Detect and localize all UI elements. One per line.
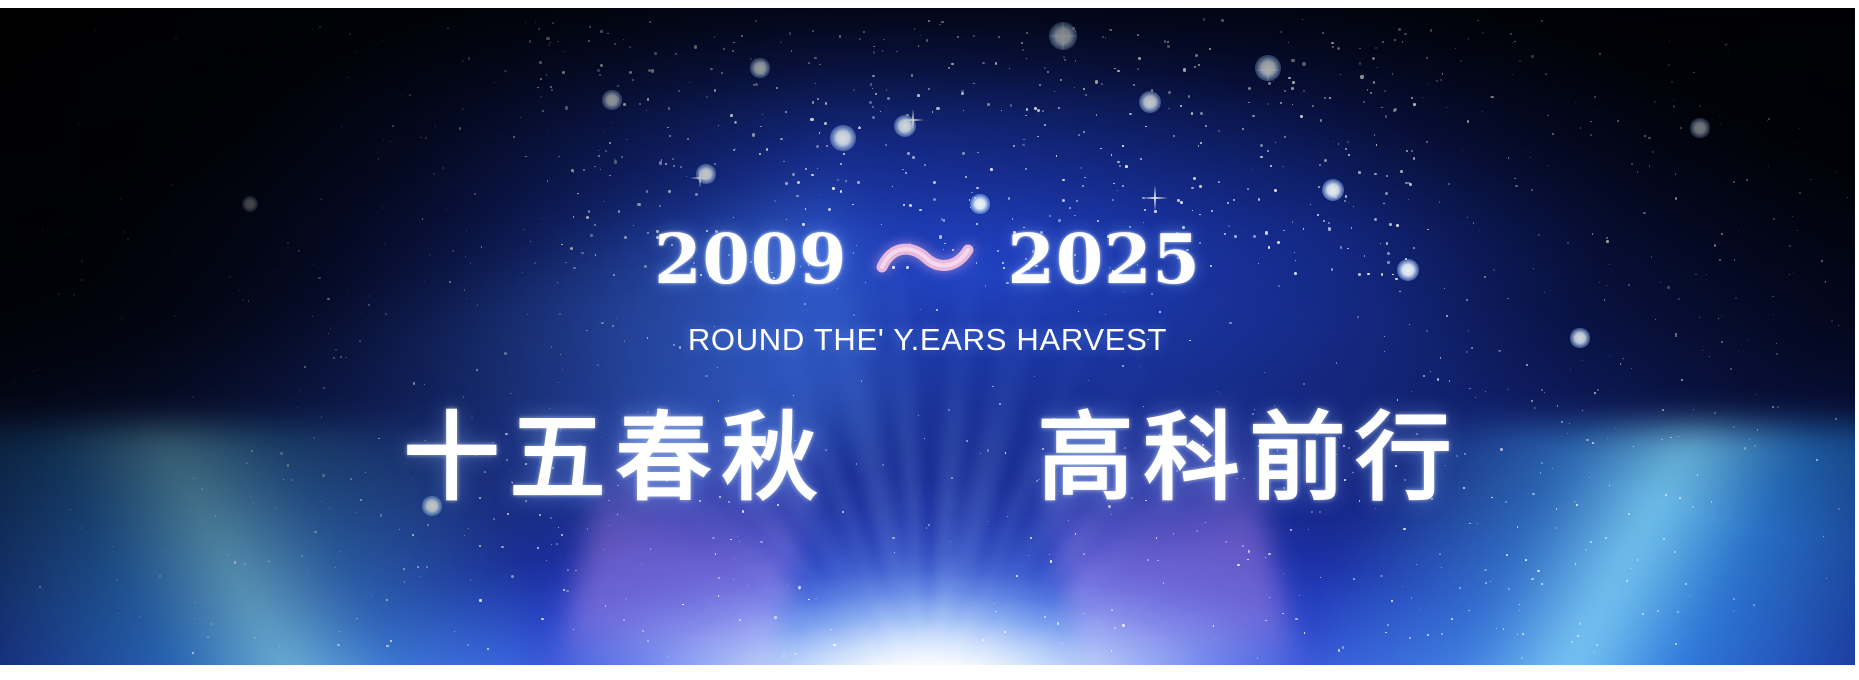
headline-row: 十五春秋 高科前行 xyxy=(0,408,1855,510)
headline-right: 高科前行 xyxy=(1028,408,1462,510)
banner-canvas: 2009 2025 ROUND THE' Y.EARS HARVEST 十五春秋… xyxy=(0,8,1855,665)
banner-content: 2009 2025 ROUND THE' Y.EARS HARVEST 十五春秋… xyxy=(0,8,1855,665)
anniversary-banner: 2009 2025 ROUND THE' Y.EARS HARVEST 十五春秋… xyxy=(0,0,1859,680)
wave-tilde-icon xyxy=(874,231,982,289)
year-range: 2009 2025 xyxy=(0,226,1855,294)
english-subtitle: ROUND THE' Y.EARS HARVEST xyxy=(0,322,1855,358)
year-start: 2009 xyxy=(654,226,847,294)
headline-left: 十五春秋 xyxy=(394,408,828,510)
year-end: 2025 xyxy=(1008,226,1201,294)
